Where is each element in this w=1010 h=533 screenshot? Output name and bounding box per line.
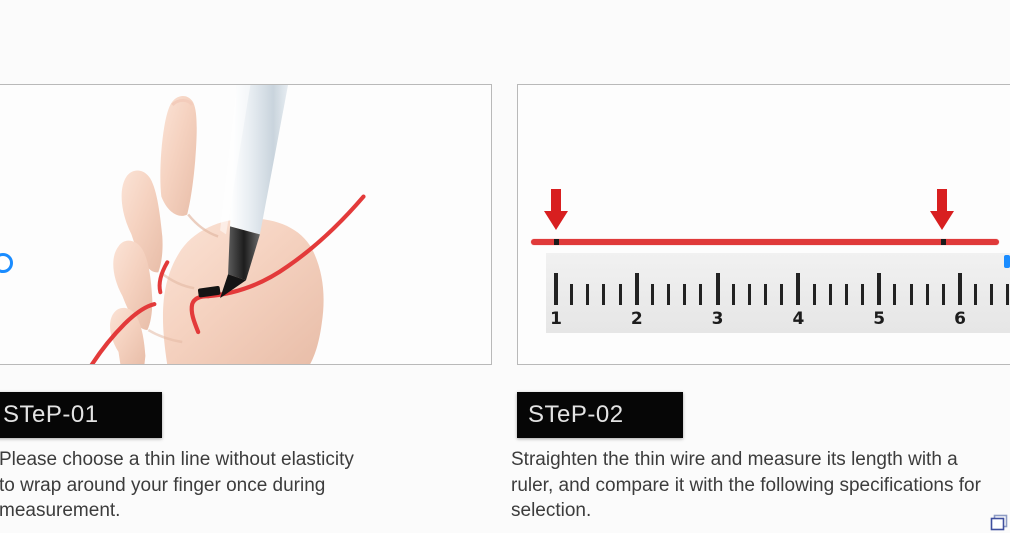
- ruler-tick-minor: [861, 284, 864, 305]
- ruler-tick-minor: [748, 284, 751, 305]
- ruler: 123456: [546, 253, 1010, 333]
- ruler-tick-minor: [570, 284, 573, 305]
- ruler-tick-minor: [586, 284, 589, 305]
- ruler-tick-minor: [732, 284, 735, 305]
- step-02-illustration-panel: 123456: [517, 84, 1010, 365]
- ruler-tick-minor: [829, 284, 832, 305]
- ruler-tick-minor: [764, 284, 767, 305]
- ruler-tick-minor: [926, 284, 929, 305]
- ruler-tick-minor: [974, 284, 977, 305]
- copy-icon[interactable]: [990, 514, 1008, 531]
- ruler-tick-minor: [683, 284, 686, 305]
- ruler-tick-minor: [813, 284, 816, 305]
- selection-handle-right[interactable]: [1004, 255, 1010, 268]
- thread-end-dot: [941, 239, 946, 245]
- ruler-tick-minor: [699, 284, 702, 305]
- ruler-tick-minor: [910, 284, 913, 305]
- ruler-tick-major: [796, 273, 800, 305]
- ruler-tick-major: [554, 273, 558, 305]
- down-arrow-icon: [929, 189, 955, 231]
- ruler-tick-minor: [651, 284, 654, 305]
- ruler-tick-minor: [780, 284, 783, 305]
- red-thread-straightened: [531, 239, 999, 245]
- ruler-tick-minor: [667, 284, 670, 305]
- step-01-illustration-panel: [0, 84, 492, 365]
- step-02-badge: STeP-02: [517, 392, 683, 438]
- ruler-tick-minor: [990, 284, 993, 305]
- step-01-badge: STeP-01: [0, 392, 162, 438]
- ruler-tick-label: 6: [954, 309, 966, 329]
- down-arrow-icon: [543, 189, 569, 231]
- ruler-tick-label: 3: [712, 309, 724, 329]
- ruler-tick-label: 5: [873, 309, 885, 329]
- ruler-tick-minor: [893, 284, 896, 305]
- ruler-tick-minor: [619, 284, 622, 305]
- ruler-tick-major: [716, 273, 720, 305]
- step-01-caption: Please choose a thin line without elasti…: [0, 447, 359, 524]
- hand-with-thread-and-pen-illustration: [0, 85, 491, 365]
- ruler-tick-major: [958, 273, 962, 305]
- instruction-page: 123456 STeP-01 STeP-02 Please choose a t…: [0, 0, 1010, 533]
- ruler-tick-label: 1: [550, 309, 562, 329]
- ruler-tick-minor: [1006, 284, 1009, 305]
- ruler-tick-major: [635, 273, 639, 305]
- ruler-tick-minor: [942, 284, 945, 305]
- ruler-tick-label: 2: [631, 309, 643, 329]
- ruler-tick-label: 4: [792, 309, 804, 329]
- ruler-tick-minor: [845, 284, 848, 305]
- ruler-tick-minor: [602, 284, 605, 305]
- thread-start-dot: [554, 239, 559, 245]
- step-02-caption: Straighten the thin wire and measure its…: [511, 447, 981, 524]
- ruler-tick-major: [877, 273, 881, 305]
